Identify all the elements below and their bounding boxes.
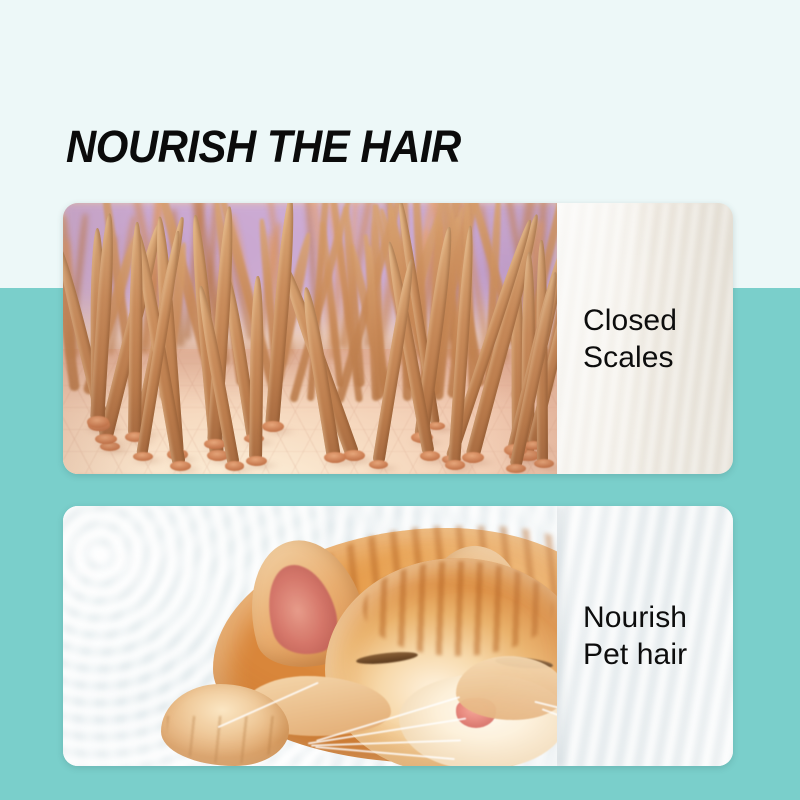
- nourish-pet-hair-caption: Nourish Pet hair: [583, 599, 733, 673]
- hair-follicles-image: [63, 203, 557, 474]
- card-closed-scales: Closed Scales: [63, 203, 733, 474]
- headline-line-1: NOURISH THE HAIR: [66, 124, 717, 169]
- nourish-pet-hair-caption-panel: Nourish Pet hair: [557, 506, 733, 766]
- card-nourish-pet-hair: Nourish Pet hair: [63, 506, 733, 766]
- kitten-scene: [63, 506, 557, 766]
- sleeping-kitten-image: [63, 506, 557, 766]
- closed-scales-caption-panel: Closed Scales: [557, 203, 733, 474]
- closed-scales-caption: Closed Scales: [583, 302, 733, 376]
- kitten-paw-rear: [456, 656, 557, 720]
- kitten-head-stripes: [363, 561, 553, 656]
- scalp-render: [63, 203, 557, 474]
- promo-banner: NOURISH THE HAIR TO MAKE IT SOFT AND SMO…: [0, 0, 800, 800]
